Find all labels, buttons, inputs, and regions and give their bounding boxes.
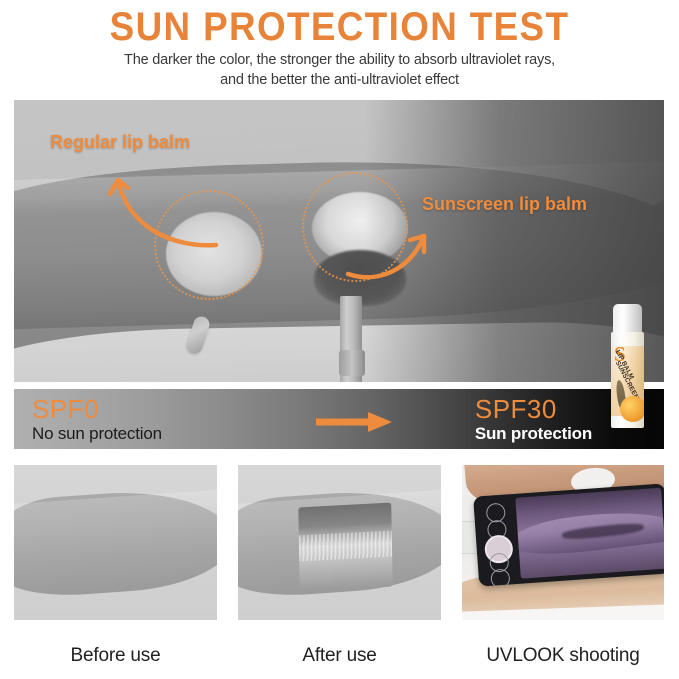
product-orange-fruit-icon [620,396,644,422]
curved-arrow-icon-sunscreen [344,212,454,292]
panel-3-camera-control-4-icon [490,568,510,586]
subtitle-line-1: The darker the color, the stronger the a… [0,50,679,70]
panel-3-phone-screen [516,488,664,579]
panel-after-use [238,465,441,620]
subtitle-line-2: and the better the anti-ultraviolet effe… [0,70,679,90]
page-title: SUN PROTECTION TEST [27,0,652,50]
spf-left-value: SPF0 [32,395,162,423]
product-body: S LIP BALM SUNSCREEN [611,332,644,428]
spf-gradient-bar: SPF0 No sun protection SPF30 Sun protect… [14,389,664,449]
caption-before-use: Before use [14,645,217,667]
curved-arrow-icon-regular [104,150,234,255]
caption-after-use: After use [238,645,441,667]
panel-2-swipe-texture [299,531,393,561]
panel-uvlook-shooting [462,465,664,620]
spf-right-value: SPF30 [475,395,592,423]
header: SUN PROTECTION TEST The darker the color… [0,0,679,90]
lip-balm-product-image: S LIP BALM SUNSCREEN [608,304,648,428]
caption-uvlook-shooting: UVLOOK shooting [462,645,664,667]
spf-left-description: No sun protection [32,423,162,445]
spf-left-group: SPF0 No sun protection [32,395,162,445]
spf-right-description: Sun protection [475,423,592,445]
hero-lipbalm-tube-base [339,350,365,376]
panel-before-use [14,465,217,620]
spf-right-group: SPF30 Sun protection [475,395,592,445]
panel-2-sunscreen-swipe [298,503,393,592]
panel-3-phone [473,483,664,586]
right-arrow-icon [316,411,394,433]
hero-test-photo: Regular lip balm Sunscreen lip balm [14,100,664,382]
